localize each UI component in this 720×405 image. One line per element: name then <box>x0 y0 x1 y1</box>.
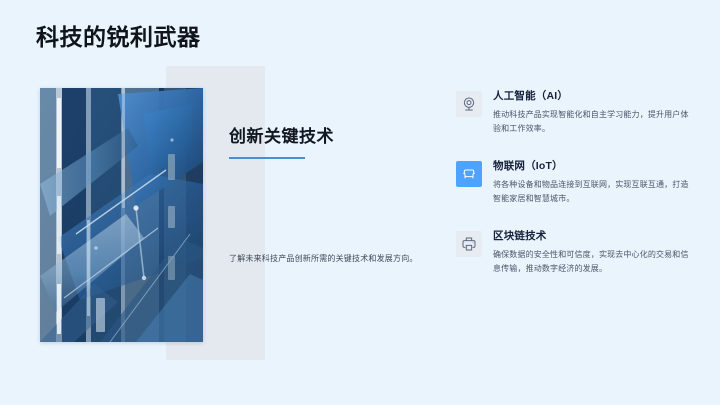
feature-title: 人工智能（AI） <box>493 90 696 103</box>
page-title: 科技的锐利武器 <box>36 24 201 52</box>
feature-item-iot[interactable]: 物联网（IoT） 将各种设备和物品连接到互联网，实现互联互通，打造智能家居和智慧… <box>456 160 696 206</box>
glass-facade-illustration <box>40 88 203 342</box>
printer-icon <box>456 231 482 257</box>
feature-body: 人工智能（AI） 推动科技产品实现智能化和自主学习能力，提升用户体验和工作效率。 <box>493 90 696 136</box>
center-description: 了解未来科技产品创新所需的关键技术和发展方向。 <box>229 252 434 266</box>
feature-title: 区块链技术 <box>493 230 696 243</box>
feature-description: 推动科技产品实现智能化和自主学习能力，提升用户体验和工作效率。 <box>493 108 696 136</box>
armchair-icon <box>456 161 482 187</box>
feature-item-ai[interactable]: 人工智能（AI） 推动科技产品实现智能化和自主学习能力，提升用户体验和工作效率。 <box>456 90 696 136</box>
heading-underline <box>229 157 305 159</box>
center-heading-block: 创新关键技术 <box>229 126 444 159</box>
feature-title: 物联网（IoT） <box>493 160 696 173</box>
feature-body: 区块链技术 确保数据的安全性和可信度，实现去中心化的交易和信息传输，推动数字经济… <box>493 230 696 276</box>
feature-body: 物联网（IoT） 将各种设备和物品连接到互联网，实现互联互通，打造智能家居和智慧… <box>493 160 696 206</box>
feature-item-blockchain[interactable]: 区块链技术 确保数据的安全性和可信度，实现去中心化的交易和信息传输，推动数字经济… <box>456 230 696 276</box>
center-heading: 创新关键技术 <box>229 126 444 148</box>
hero-photo <box>40 88 203 342</box>
feature-description: 确保数据的安全性和可信度，实现去中心化的交易和信息传输，推动数字经济的发展。 <box>493 248 696 276</box>
feature-description: 将各种设备和物品连接到互联网，实现互联互通，打造智能家居和智慧城市。 <box>493 178 696 206</box>
slide-canvas: 科技的锐利武器 <box>0 0 720 405</box>
feature-list: 人工智能（AI） 推动科技产品实现智能化和自主学习能力，提升用户体验和工作效率。… <box>456 90 696 276</box>
webcam-icon <box>456 91 482 117</box>
